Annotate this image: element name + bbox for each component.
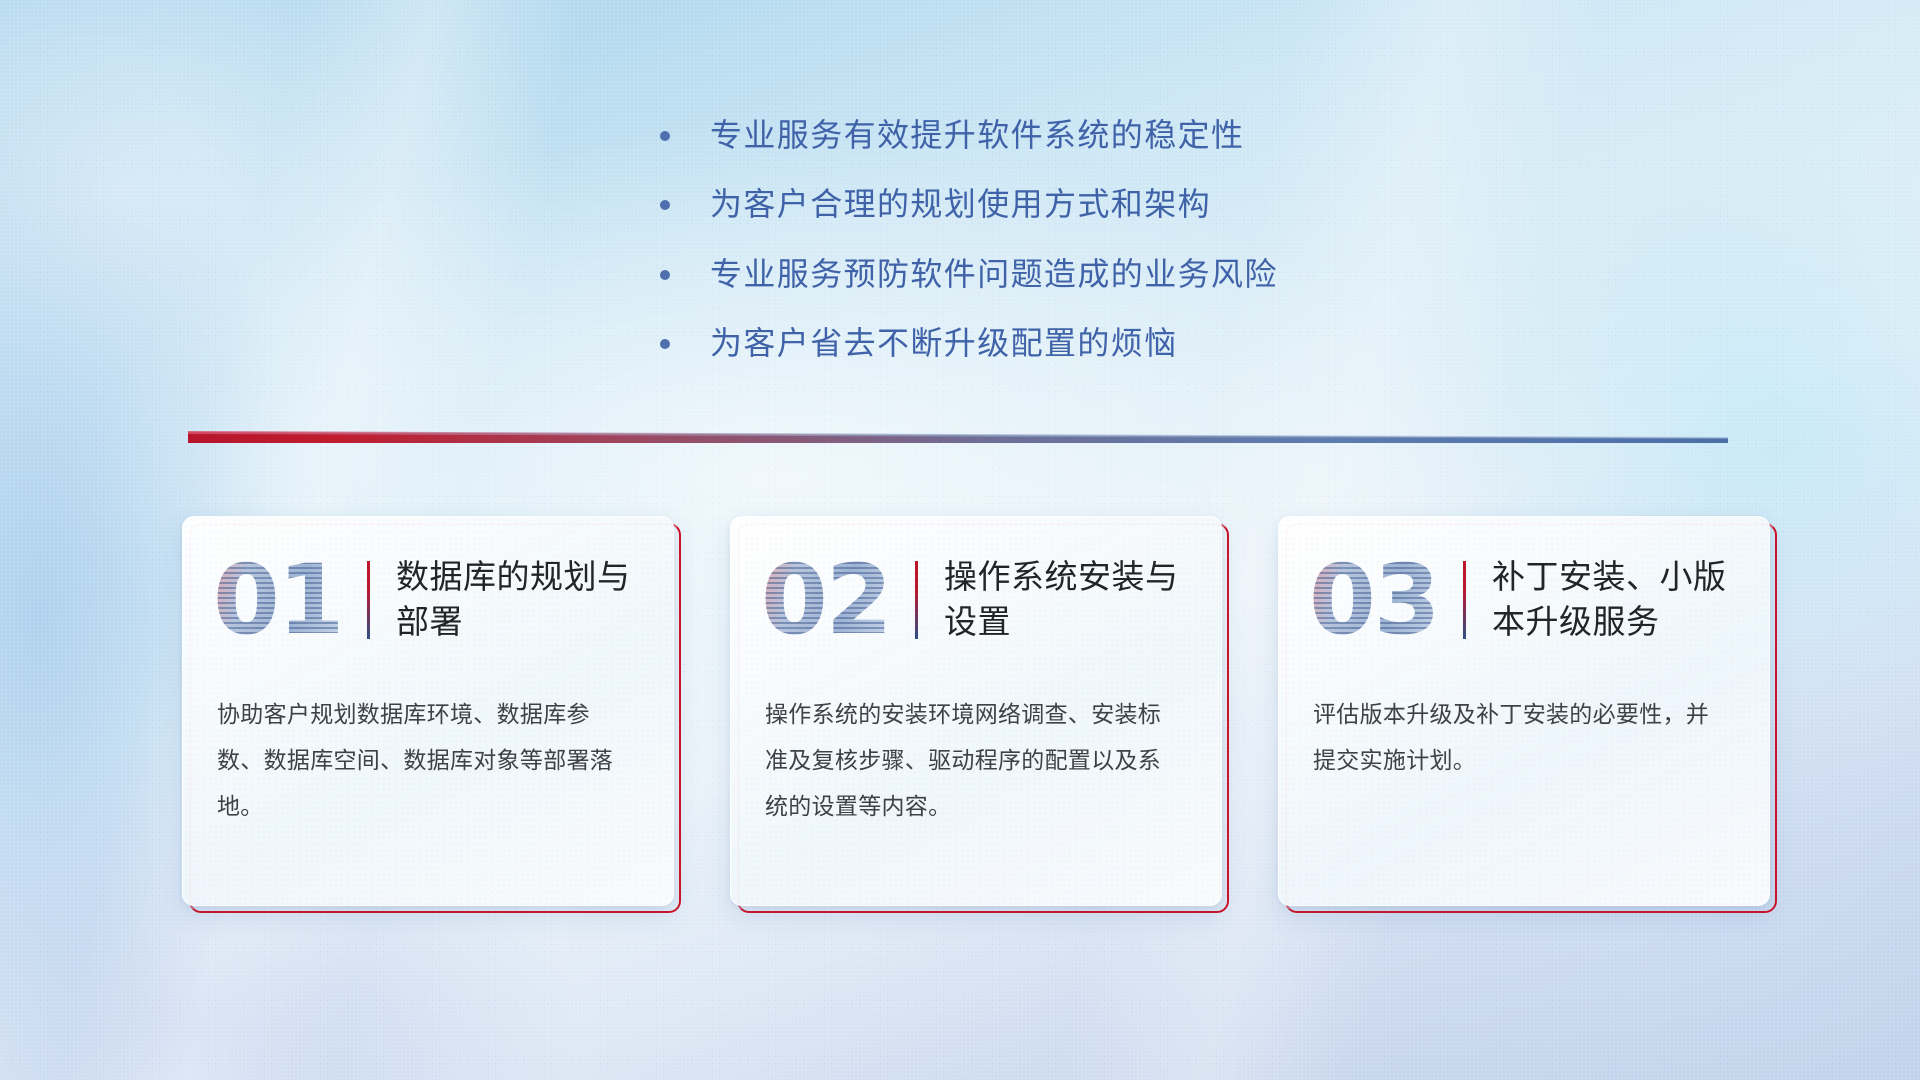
divider-shape-icon: [188, 430, 1728, 450]
bullet-text: 为客户合理的规划使用方式和架构: [710, 181, 1211, 227]
card-title: 补丁安装、小版本升级服务: [1492, 555, 1735, 644]
card-number: 03: [1309, 552, 1459, 648]
bullet-text: 专业服务预防软件问题造成的业务风险: [710, 251, 1278, 297]
card-description: 评估版本升级及补丁安装的必要性，并提交实施计划。: [1279, 653, 1769, 783]
slide-root: 专业服务有效提升软件系统的稳定性 为客户合理的规划使用方式和架构 专业服务预防软…: [0, 0, 1920, 1080]
card-header: 03 补丁安装、小版本升级服务: [1279, 517, 1769, 653]
list-item: 为客户省去不断升级配置的烦恼: [660, 320, 1278, 366]
card-title: 数据库的规划与部署: [396, 555, 639, 644]
bullet-dot-icon: [660, 200, 670, 210]
card-title: 操作系统安装与设置: [944, 555, 1187, 644]
service-card[interactable]: 03 补丁安装、小版本升级服务 评估版本升级及补丁安装的必要性，并提交实施计划。: [1278, 516, 1770, 906]
service-card-list: 01 数据库的规划与部署 协助客户规划数据库环境、数据库参数、数据库空间、数据库…: [182, 516, 1770, 906]
card-header: 02 操作系统安装与设置: [731, 517, 1221, 653]
card-divider-rule: [915, 561, 918, 639]
bullet-dot-icon: [660, 339, 670, 349]
list-item: 专业服务预防软件问题造成的业务风险: [660, 251, 1278, 297]
service-card[interactable]: 02 操作系统安装与设置 操作系统的安装环境网络调查、安装标准及复核步骤、驱动程…: [730, 516, 1222, 906]
card-divider-rule: [1463, 561, 1466, 639]
list-item: 为客户合理的规划使用方式和架构: [660, 181, 1278, 227]
bullet-dot-icon: [660, 131, 670, 141]
benefits-bullet-list: 专业服务有效提升软件系统的稳定性 为客户合理的规划使用方式和架构 专业服务预防软…: [660, 112, 1278, 390]
card-number: 02: [761, 552, 911, 648]
bullet-dot-icon: [660, 270, 670, 280]
list-item: 专业服务有效提升软件系统的稳定性: [660, 112, 1278, 158]
card-description: 操作系统的安装环境网络调查、安装标准及复核步骤、驱动程序的配置以及系统的设置等内…: [731, 653, 1221, 829]
card-surface: 01 数据库的规划与部署 协助客户规划数据库环境、数据库参数、数据库空间、数据库…: [182, 516, 674, 906]
card-surface: 03 补丁安装、小版本升级服务 评估版本升级及补丁安装的必要性，并提交实施计划。: [1278, 516, 1770, 906]
service-card[interactable]: 01 数据库的规划与部署 协助客户规划数据库环境、数据库参数、数据库空间、数据库…: [182, 516, 674, 906]
card-header: 01 数据库的规划与部署: [183, 517, 673, 653]
card-description: 协助客户规划数据库环境、数据库参数、数据库空间、数据库对象等部署落地。: [183, 653, 673, 829]
bullet-text: 为客户省去不断升级配置的烦恼: [710, 320, 1178, 366]
card-number: 01: [213, 552, 363, 648]
bullet-text: 专业服务有效提升软件系统的稳定性: [710, 112, 1244, 158]
section-divider-arrow: [188, 430, 1728, 450]
card-surface: 02 操作系统安装与设置 操作系统的安装环境网络调查、安装标准及复核步骤、驱动程…: [730, 516, 1222, 906]
card-divider-rule: [367, 561, 370, 639]
